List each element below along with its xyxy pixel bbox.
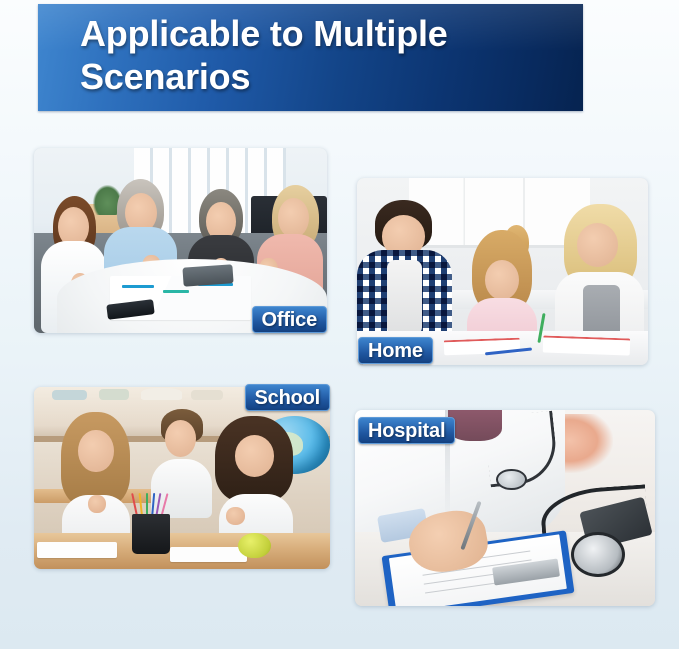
sphygmomanometer-gauge [571, 532, 625, 577]
school-photo [34, 387, 330, 569]
home-notebook [543, 335, 631, 355]
scenarios-page: Applicable to Multiple Scenarios [0, 0, 679, 649]
school-scene [34, 387, 330, 569]
scenario-card-hospital[interactable]: Hospital [355, 410, 655, 606]
shelf-item [52, 390, 88, 400]
head [485, 260, 519, 300]
shelf-item [141, 388, 182, 400]
scenario-card-home[interactable]: Home [357, 178, 648, 365]
head [235, 435, 274, 476]
office-chart-bar [163, 290, 189, 293]
head [278, 198, 309, 238]
head [577, 223, 618, 266]
head [165, 420, 196, 457]
scenario-card-school[interactable]: School [34, 387, 330, 569]
head [78, 430, 113, 473]
page-title: Applicable to Multiple Scenarios [80, 12, 570, 98]
scenario-tag-hospital[interactable]: Hospital [358, 417, 455, 444]
scenario-card-office[interactable]: Office [34, 148, 327, 333]
scenario-tag-office[interactable]: Office [252, 306, 327, 333]
school-open-book [170, 547, 247, 562]
school-apple [238, 533, 271, 558]
shelf-item [191, 390, 224, 400]
office-chart-bar [122, 285, 154, 288]
inner-shirt [387, 260, 423, 336]
shelf-item [99, 389, 129, 400]
hand-holding-pencil [88, 495, 106, 513]
header-banner: Applicable to Multiple Scenarios [38, 4, 583, 111]
scenario-tag-home[interactable]: Home [358, 337, 433, 364]
scenario-tag-school[interactable]: School [245, 384, 330, 411]
school-pencil-cup [132, 514, 170, 554]
school-open-book [37, 542, 117, 558]
